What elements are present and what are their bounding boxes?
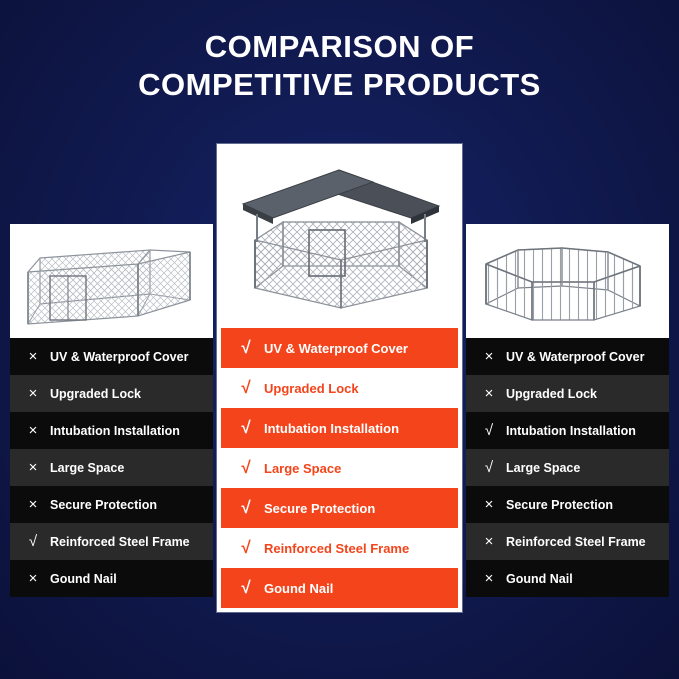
feature-label: Large Space: [257, 461, 341, 476]
feature-row: √ Large Space: [466, 449, 669, 486]
feature-mark: √: [235, 578, 257, 598]
feature-row: √ Secure Protection: [221, 488, 458, 528]
dog-kennel-with-roof-icon: [221, 148, 458, 328]
feature-mark: ×: [20, 348, 46, 365]
feature-label: Upgraded Lock: [257, 381, 359, 396]
feature-label: Intubation Installation: [257, 421, 399, 436]
feature-label: Gound Nail: [502, 572, 573, 586]
feature-row: × Gound Nail: [466, 560, 669, 597]
feature-label: Secure Protection: [46, 498, 157, 512]
feature-mark: ×: [20, 385, 46, 402]
feature-row: × Secure Protection: [466, 486, 669, 523]
feature-label: UV & Waterproof Cover: [502, 350, 644, 364]
feature-label: Reinforced Steel Frame: [46, 535, 190, 549]
metal-pet-playpen-icon: [466, 224, 669, 338]
feature-row: × Intubation Installation: [10, 412, 213, 449]
feature-label: Large Space: [46, 461, 124, 475]
feature-mark: ×: [20, 496, 46, 513]
feature-row: × Gound Nail: [10, 560, 213, 597]
feature-row: √ Gound Nail: [221, 568, 458, 608]
feature-mark: √: [235, 338, 257, 358]
feature-row: × Large Space: [10, 449, 213, 486]
feature-label: Intubation Installation: [502, 424, 636, 438]
feature-label: Gound Nail: [46, 572, 117, 586]
feature-rows-left: × UV & Waterproof Cover × Upgraded Lock …: [10, 338, 213, 597]
feature-label: UV & Waterproof Cover: [46, 350, 188, 364]
feature-label: Large Space: [502, 461, 580, 475]
feature-mark: ×: [20, 459, 46, 476]
feature-row: √ Large Space: [221, 448, 458, 488]
feature-mark: √: [20, 533, 46, 550]
comparison-infographic: COMPARISON OF COMPETITIVE PRODUCTS: [0, 0, 679, 679]
feature-row: √ UV & Waterproof Cover: [221, 328, 458, 368]
feature-mark: ×: [476, 496, 502, 513]
feature-mark: √: [235, 418, 257, 438]
page-title-line-2: COMPETITIVE PRODUCTS: [0, 66, 679, 104]
chain-link-kennel-no-roof-icon: [10, 224, 213, 338]
feature-mark: √: [476, 459, 502, 476]
feature-label: UV & Waterproof Cover: [257, 341, 408, 356]
feature-row: × UV & Waterproof Cover: [466, 338, 669, 375]
feature-rows-right: × UV & Waterproof Cover × Upgraded Lock …: [466, 338, 669, 597]
feature-mark: √: [235, 378, 257, 398]
feature-rows-center: √ UV & Waterproof Cover √ Upgraded Lock …: [221, 328, 458, 608]
product-image-right: [466, 224, 669, 338]
feature-label: Gound Nail: [257, 581, 333, 596]
feature-row: × Upgraded Lock: [466, 375, 669, 412]
feature-row: √ Reinforced Steel Frame: [221, 528, 458, 568]
feature-row: √ Reinforced Steel Frame: [10, 523, 213, 560]
feature-mark: ×: [20, 570, 46, 587]
page-title: COMPARISON OF COMPETITIVE PRODUCTS: [0, 28, 679, 104]
feature-mark: √: [476, 422, 502, 439]
feature-mark: √: [235, 538, 257, 558]
feature-mark: √: [235, 458, 257, 478]
feature-row: × Secure Protection: [10, 486, 213, 523]
feature-label: Reinforced Steel Frame: [502, 535, 646, 549]
feature-label: Secure Protection: [257, 501, 375, 516]
feature-mark: ×: [20, 422, 46, 439]
feature-row: √ Intubation Installation: [466, 412, 669, 449]
comparison-column-left: × UV & Waterproof Cover × Upgraded Lock …: [10, 224, 213, 597]
feature-label: Reinforced Steel Frame: [257, 541, 409, 556]
feature-row: √ Intubation Installation: [221, 408, 458, 448]
comparison-column-right: × UV & Waterproof Cover × Upgraded Lock …: [466, 224, 669, 597]
feature-label: Secure Protection: [502, 498, 613, 512]
feature-row: √ Upgraded Lock: [221, 368, 458, 408]
feature-mark: ×: [476, 348, 502, 365]
feature-mark: ×: [476, 533, 502, 550]
feature-label: Upgraded Lock: [46, 387, 141, 401]
feature-label: Intubation Installation: [46, 424, 180, 438]
feature-mark: ×: [476, 385, 502, 402]
feature-row: × Reinforced Steel Frame: [466, 523, 669, 560]
feature-row: × Upgraded Lock: [10, 375, 213, 412]
product-image-center: [221, 148, 458, 328]
page-title-line-1: COMPARISON OF: [205, 29, 474, 64]
feature-mark: ×: [476, 570, 502, 587]
comparison-column-center: √ UV & Waterproof Cover √ Upgraded Lock …: [217, 144, 462, 612]
feature-mark: √: [235, 498, 257, 518]
feature-label: Upgraded Lock: [502, 387, 597, 401]
product-image-left: [10, 224, 213, 338]
feature-row: × UV & Waterproof Cover: [10, 338, 213, 375]
